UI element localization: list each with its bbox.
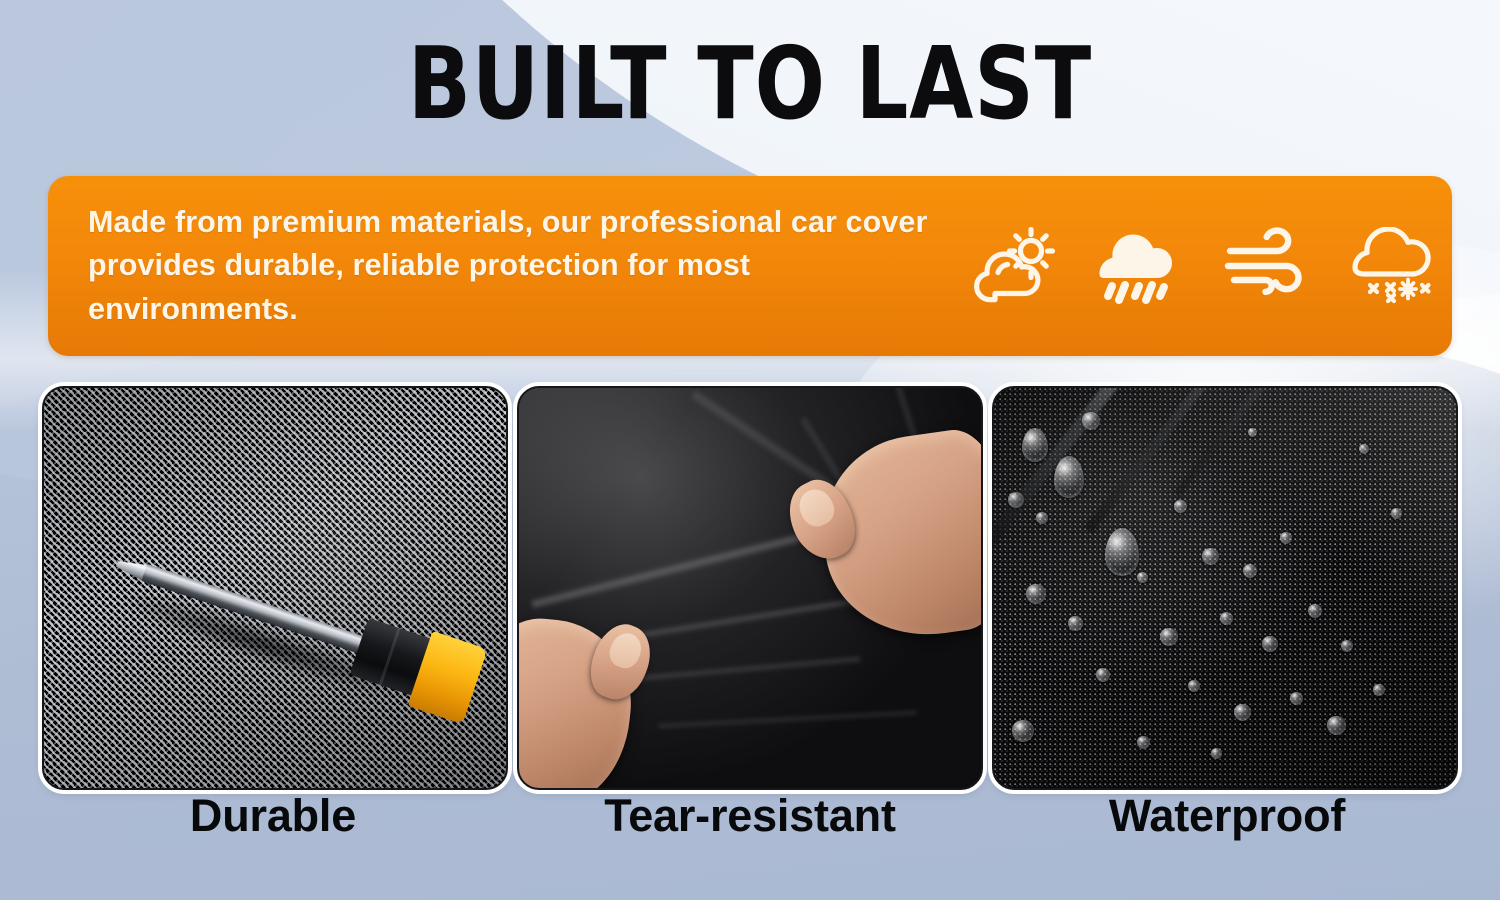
water-droplet bbox=[1373, 684, 1385, 696]
sun-behind-cloud-icon bbox=[968, 227, 1060, 305]
caption-waterproof: Waterproof bbox=[996, 792, 1458, 841]
product-infographic: BUILT TO LAST Made from premium material… bbox=[0, 0, 1500, 900]
water-droplet bbox=[1290, 692, 1303, 705]
water-droplet bbox=[1096, 668, 1110, 682]
thumbnail bbox=[606, 628, 647, 672]
water-droplet bbox=[1105, 528, 1139, 576]
feature-panel-tear-resistant[interactable] bbox=[517, 386, 983, 790]
water-droplet bbox=[1082, 412, 1100, 430]
tear-resistant-image bbox=[519, 388, 981, 788]
water-droplet bbox=[1359, 444, 1369, 454]
water-droplet bbox=[1188, 680, 1200, 692]
caption-durable: Durable bbox=[42, 792, 504, 841]
weather-icon-group bbox=[968, 227, 1456, 305]
rain-cloud-icon bbox=[1094, 227, 1186, 305]
snow-cloud-icon bbox=[1346, 227, 1438, 305]
durable-fabric-image bbox=[44, 388, 506, 788]
water-droplet bbox=[1202, 548, 1219, 565]
water-droplet bbox=[1327, 716, 1346, 735]
feature-panel-row bbox=[42, 386, 1458, 786]
water-droplet bbox=[1068, 616, 1083, 631]
feature-panel-waterproof[interactable] bbox=[992, 386, 1458, 790]
water-droplet bbox=[1262, 636, 1278, 652]
banner-description: Made from premium materials, our profess… bbox=[88, 201, 968, 331]
water-droplet bbox=[1054, 456, 1084, 498]
waterproof-image bbox=[994, 388, 1456, 788]
feature-panel-durable[interactable] bbox=[42, 386, 508, 790]
feature-caption-row: Durable Tear-resistant Waterproof bbox=[42, 792, 1458, 841]
water-droplet bbox=[1008, 492, 1024, 508]
water-droplet bbox=[1022, 428, 1048, 462]
water-droplet bbox=[1341, 640, 1353, 652]
waterproof-lighting bbox=[994, 388, 1456, 788]
caption-tear-resistant: Tear-resistant bbox=[519, 792, 981, 841]
wind-icon bbox=[1220, 227, 1312, 305]
thumbnail bbox=[794, 484, 839, 531]
water-droplet bbox=[1036, 512, 1048, 524]
feature-banner: Made from premium materials, our profess… bbox=[48, 176, 1452, 356]
page-title: BUILT TO LAST bbox=[60, 34, 1440, 134]
